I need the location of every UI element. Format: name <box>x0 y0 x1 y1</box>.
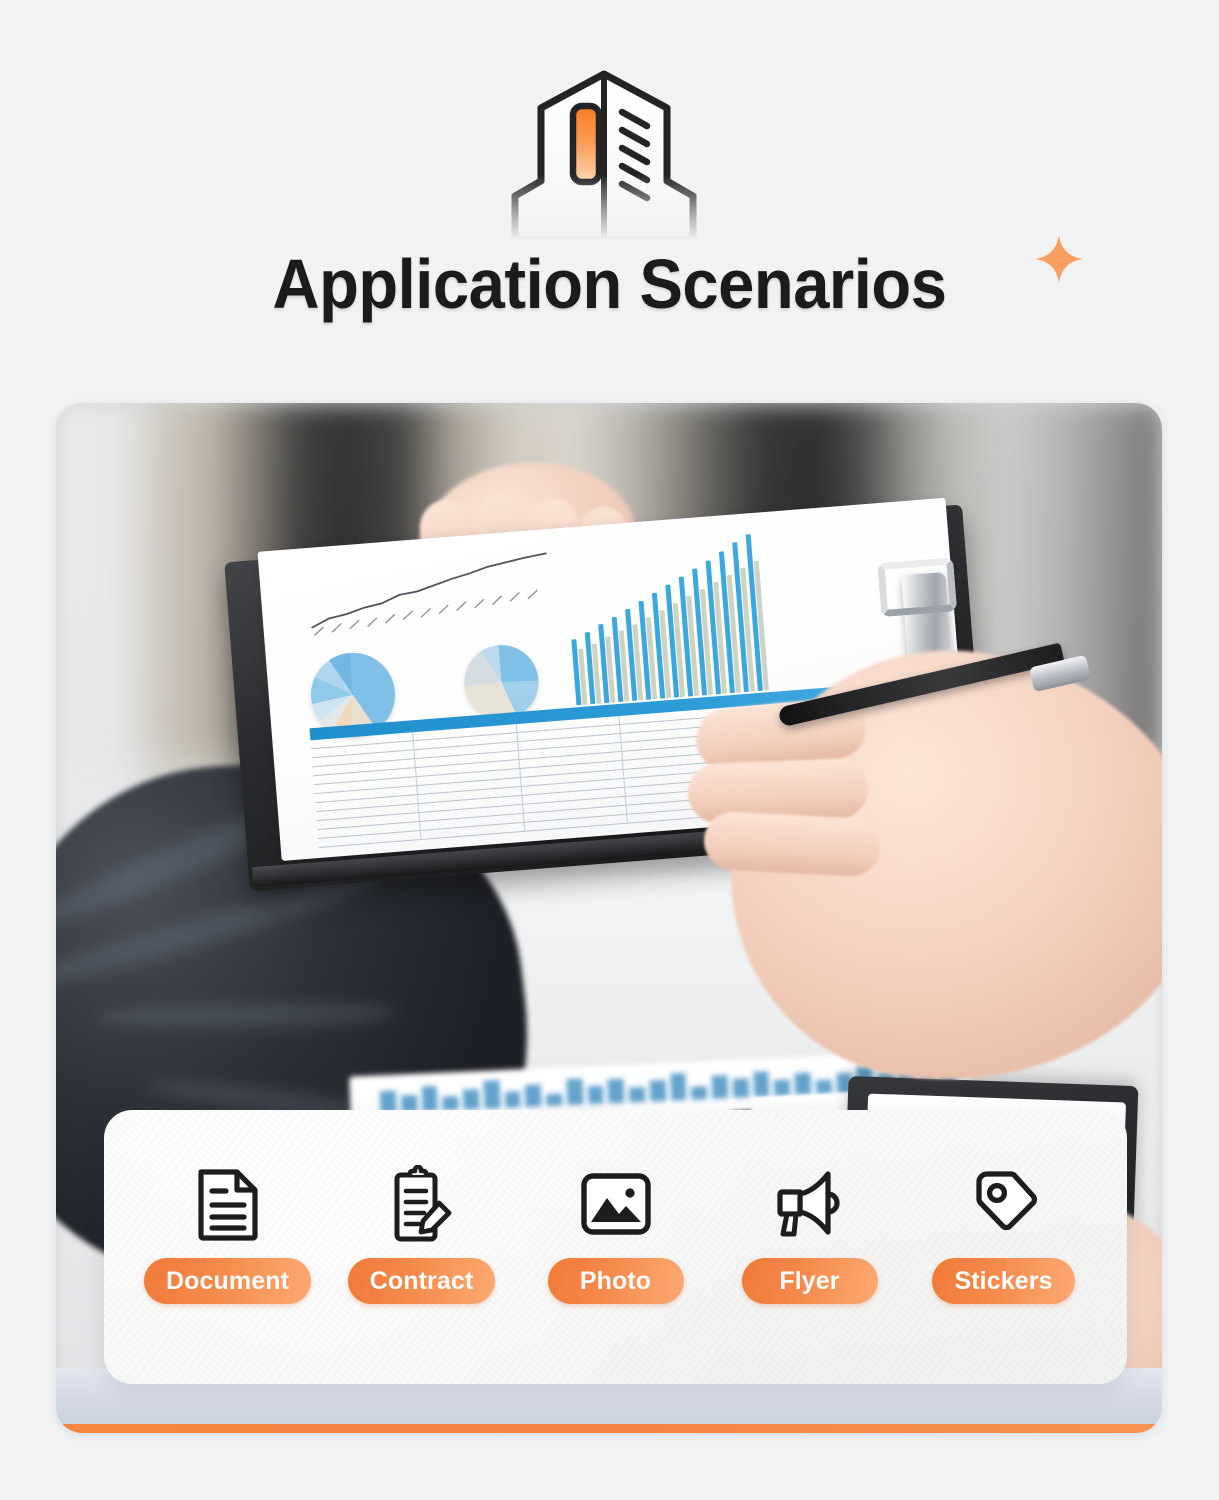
category-pill-document[interactable]: Document <box>144 1258 311 1304</box>
category-pill-photo[interactable]: Photo <box>548 1258 684 1304</box>
category-item-contract[interactable]: Contract <box>325 1164 519 1304</box>
price-tag-icon <box>966 1164 1042 1244</box>
clipboard-clip-loop <box>877 557 957 617</box>
category-item-photo[interactable]: Photo <box>519 1164 713 1304</box>
category-pill-stickers[interactable]: Stickers <box>932 1258 1074 1304</box>
photo-image-icon <box>578 1164 654 1244</box>
categories-card: Document Contract <box>104 1110 1127 1384</box>
category-pill-flyer[interactable]: Flyer <box>742 1258 878 1304</box>
category-item-stickers[interactable]: Stickers <box>907 1164 1101 1304</box>
megaphone-icon <box>770 1164 850 1244</box>
category-item-flyer[interactable]: Flyer <box>713 1164 907 1304</box>
pointing-finger <box>703 810 882 877</box>
contract-clipboard-icon <box>387 1164 457 1244</box>
photo-orange-accent-bar <box>56 1424 1162 1433</box>
category-pill-contract[interactable]: Contract <box>348 1258 496 1304</box>
category-item-document[interactable]: Document <box>131 1164 325 1304</box>
categories-row: Document Contract <box>104 1164 1127 1304</box>
sparkle-star-icon <box>1031 231 1087 287</box>
building-document-logo <box>497 68 711 240</box>
document-icon <box>195 1164 261 1244</box>
page-title: Application Scenarios <box>43 238 1177 330</box>
page-header: Application Scenarios <box>0 0 1219 392</box>
report-line-chart <box>303 549 577 636</box>
